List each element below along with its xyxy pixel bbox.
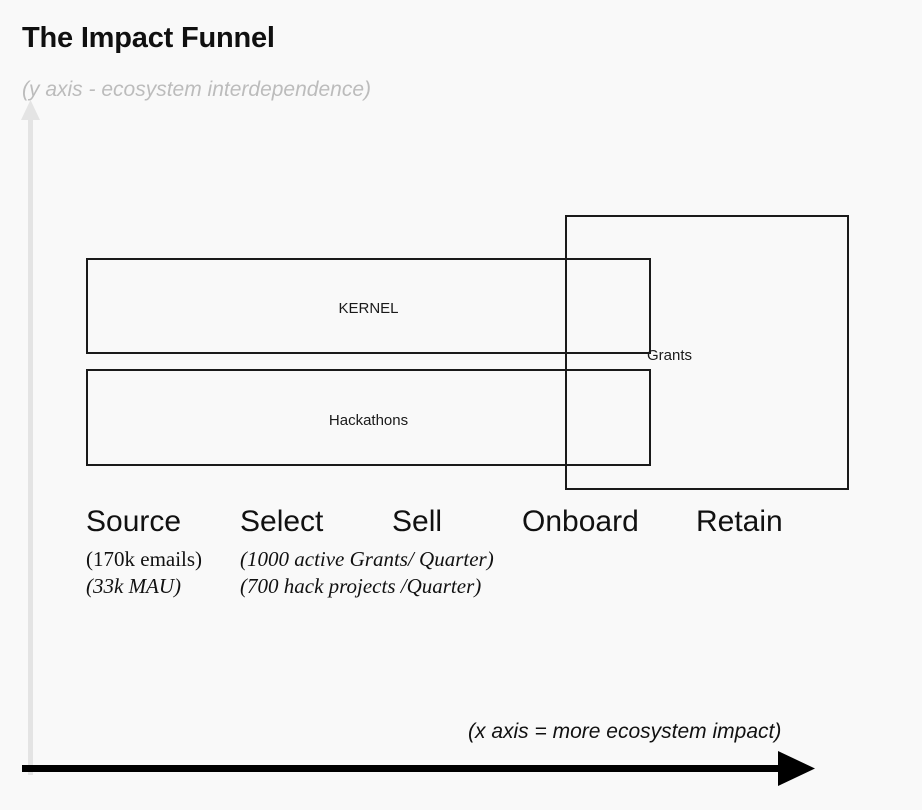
stage-label-sell: Sell bbox=[392, 505, 442, 539]
stage-label-select: Select bbox=[240, 505, 323, 539]
y-axis-arrow bbox=[12, 100, 52, 775]
funnel-box-hackathons-label: Hackathons bbox=[88, 412, 649, 429]
stage-label-onboard: Onboard bbox=[522, 505, 639, 539]
metrics-block: (170k emails) (33k MAU) (1000 active Gra… bbox=[0, 547, 922, 607]
stage-label-source: Source bbox=[86, 505, 181, 539]
y-axis-caption: (y axis - ecosystem interdependence) bbox=[22, 78, 371, 102]
diagram-canvas: The Impact Funnel (y axis - ecosystem in… bbox=[0, 0, 922, 810]
x-axis-caption: (x axis = more ecosystem impact) bbox=[468, 720, 781, 744]
metric-source-emails: (170k emails) bbox=[86, 547, 202, 572]
funnel-box-kernel[interactable]: KERNEL bbox=[86, 258, 651, 354]
page-title: The Impact Funnel bbox=[22, 22, 275, 55]
stage-label-row: Source Select Sell Onboard Retain bbox=[0, 505, 922, 550]
funnel-box-hackathons[interactable]: Hackathons bbox=[86, 369, 651, 466]
stage-label-retain: Retain bbox=[696, 505, 783, 539]
metric-source-mau: (33k MAU) bbox=[86, 574, 181, 599]
metric-active-grants: (1000 active Grants/ Quarter) bbox=[240, 547, 494, 572]
funnel-box-kernel-label: KERNEL bbox=[88, 300, 649, 317]
x-axis-arrow bbox=[10, 745, 840, 795]
metric-hack-projects: (700 hack projects /Quarter) bbox=[240, 574, 481, 599]
funnel-box-grants-label: Grants bbox=[647, 347, 847, 364]
